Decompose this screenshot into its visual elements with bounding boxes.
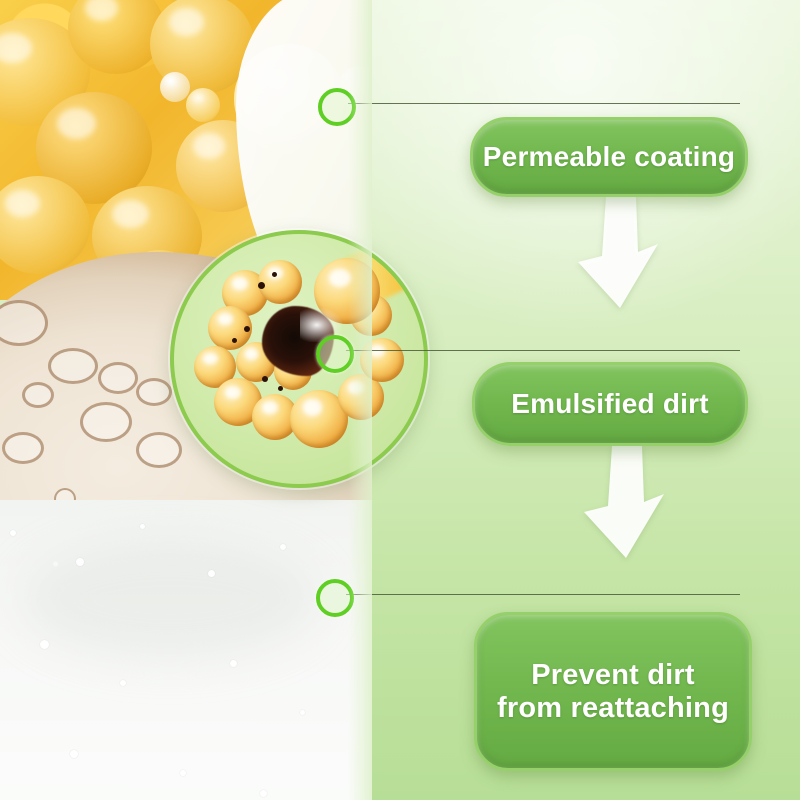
step-label-3-line2: from reattaching [497, 692, 729, 724]
step-label-1: Permeable coating [483, 141, 735, 172]
soap-foam-photo [0, 500, 372, 800]
photo-soft-edge [348, 0, 372, 800]
connector-line-3 [346, 594, 740, 595]
step-label-3: Prevent dirt from reattaching [497, 659, 729, 724]
infographic-stage: Permeable coating Emulsified dirt Preven… [0, 0, 800, 800]
step-label-2: Emulsified dirt [511, 388, 708, 419]
step-label-3-line1: Prevent dirt [531, 659, 695, 691]
connector-line-1 [348, 103, 740, 104]
step-pill-permeable-coating[interactable]: Permeable coating [470, 117, 748, 197]
flow-arrow-2 [570, 446, 680, 558]
flow-arrow-1 [564, 196, 674, 308]
magnifier-circle [170, 230, 428, 488]
step-pill-emulsified-dirt[interactable]: Emulsified dirt [472, 362, 748, 446]
step-pill-prevent-dirt[interactable]: Prevent dirt from reattaching [474, 612, 752, 771]
connector-line-2 [346, 350, 740, 351]
